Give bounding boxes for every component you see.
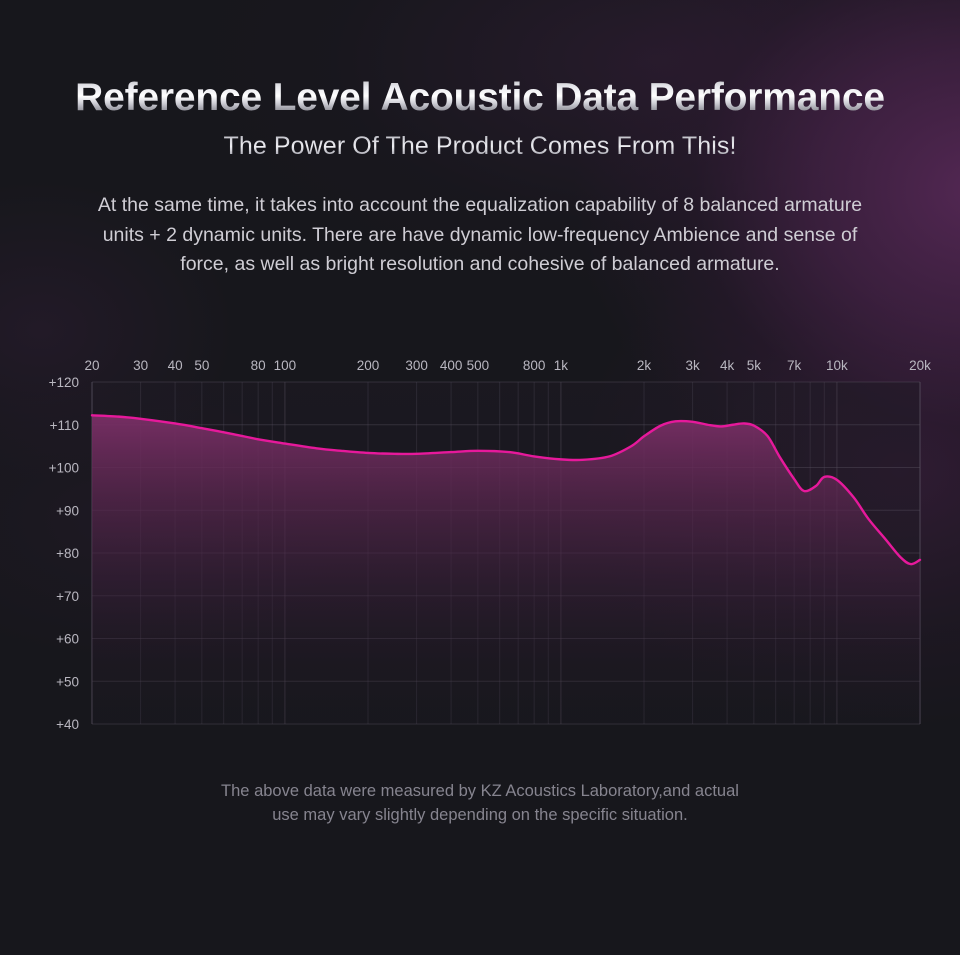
y-axis-tick-label: +120 — [49, 375, 79, 390]
x-axis-tick-label: 10k — [826, 358, 848, 373]
x-axis-tick-label: 800 — [523, 358, 546, 373]
page-content: Reference Level Acoustic Data Performanc… — [0, 0, 960, 955]
footnote-line-1: The above data were measured by KZ Acous… — [150, 780, 810, 804]
x-axis-tick-label: 5k — [747, 358, 762, 373]
x-axis-tick-label: 20 — [84, 358, 99, 373]
y-axis-tick-label: +50 — [56, 674, 79, 689]
x-axis-tick-label: 200 — [357, 358, 380, 373]
frequency-response-chart: 20304050801002003004005008001k2k3k4k5k7k… — [0, 340, 960, 740]
chart-svg: 20304050801002003004005008001k2k3k4k5k7k… — [0, 340, 960, 740]
y-axis-tick-label: +80 — [56, 546, 79, 561]
y-axis-tick-label: +60 — [56, 631, 79, 646]
y-axis-tick-label: +110 — [50, 418, 79, 433]
x-axis-tick-label: 500 — [467, 358, 490, 373]
page-title: Reference Level Acoustic Data Performanc… — [0, 78, 960, 119]
x-axis-tick-label: 2k — [637, 358, 652, 373]
x-axis-tick-label: 4k — [720, 358, 735, 373]
x-axis-tick-label: 80 — [251, 358, 266, 373]
x-axis-tick-labels: 20304050801002003004005008001k2k3k4k5k7k… — [84, 358, 931, 373]
x-axis-tick-label: 7k — [787, 358, 802, 373]
x-axis-tick-label: 300 — [405, 358, 428, 373]
x-axis-tick-label: 30 — [133, 358, 148, 373]
x-axis-tick-label: 20k — [909, 358, 931, 373]
header: Reference Level Acoustic Data Performanc… — [0, 0, 960, 280]
x-axis-tick-label: 100 — [274, 358, 297, 373]
footnote-line-2: use may vary slightly depending on the s… — [150, 804, 810, 828]
y-axis-tick-label: +90 — [56, 503, 79, 518]
y-axis-tick-label: +40 — [56, 717, 79, 732]
y-axis-tick-label: +100 — [49, 460, 79, 475]
x-axis-tick-label: 1k — [554, 358, 569, 373]
intro-paragraph: At the same time, it takes into account … — [80, 191, 880, 280]
y-axis-tick-label: +70 — [56, 589, 79, 604]
y-axis-tick-labels: +120+110+100+90+80+70+60+50+40 — [49, 375, 79, 732]
x-axis-tick-label: 3k — [685, 358, 700, 373]
x-axis-tick-label: 50 — [194, 358, 209, 373]
page-subtitle: The Power Of The Product Comes From This… — [0, 132, 960, 161]
x-axis-tick-label: 400 — [440, 358, 463, 373]
footnote: The above data were measured by KZ Acous… — [150, 780, 810, 828]
x-axis-tick-label: 40 — [168, 358, 183, 373]
